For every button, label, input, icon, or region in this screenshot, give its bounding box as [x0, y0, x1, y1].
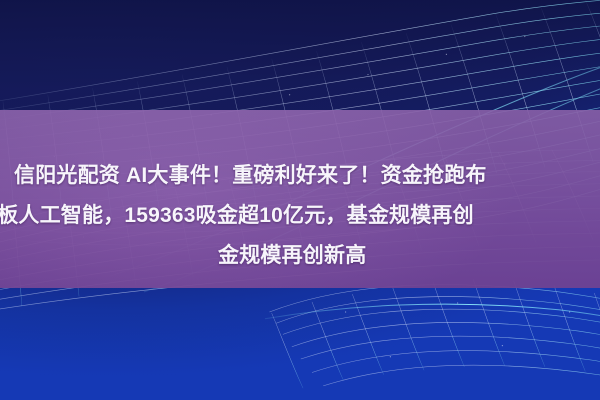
banner-headline: 信阳光配资 AI大事件！重磅利好来了！资金抢跑布 业板人工智能，159363吸金…: [14, 156, 600, 276]
headline-line-3: 金规模再创新高: [218, 236, 600, 276]
headline-line-1: 信阳光配资 AI大事件！重磅利好来了！资金抢跑布: [14, 156, 600, 196]
headline-line-2: 业板人工智能，159363吸金超10亿元，基金规模再创: [0, 196, 600, 236]
banner-image: 信阳光配资 AI大事件！重磅利好来了！资金抢跑布 业板人工智能，159363吸金…: [0, 0, 600, 400]
headline-clip-region: 信阳光配资 AI大事件！重磅利好来了！资金抢跑布 业板人工智能，159363吸金…: [0, 0, 600, 400]
